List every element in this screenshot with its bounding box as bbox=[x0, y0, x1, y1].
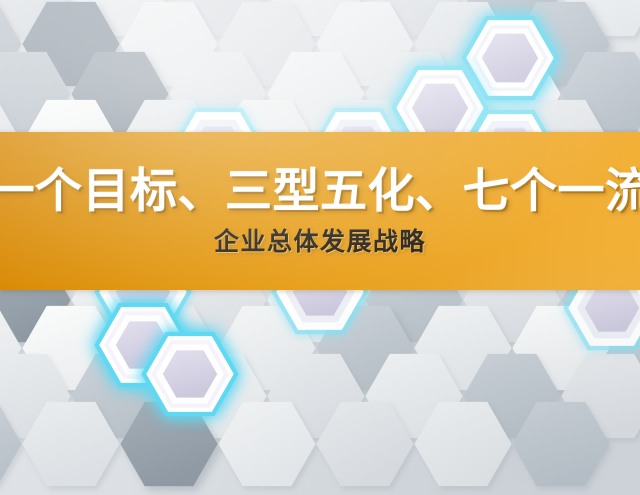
title-banner: “一个目标、三型五化、七个一流” 企业总体发展战略 bbox=[0, 132, 640, 290]
page-title: “一个目标、三型五化、七个一流” bbox=[0, 167, 640, 214]
presentation-slide: “一个目标、三型五化、七个一流” 企业总体发展战略 bbox=[0, 0, 640, 495]
page-subtitle: 企业总体发展战略 bbox=[214, 230, 426, 255]
